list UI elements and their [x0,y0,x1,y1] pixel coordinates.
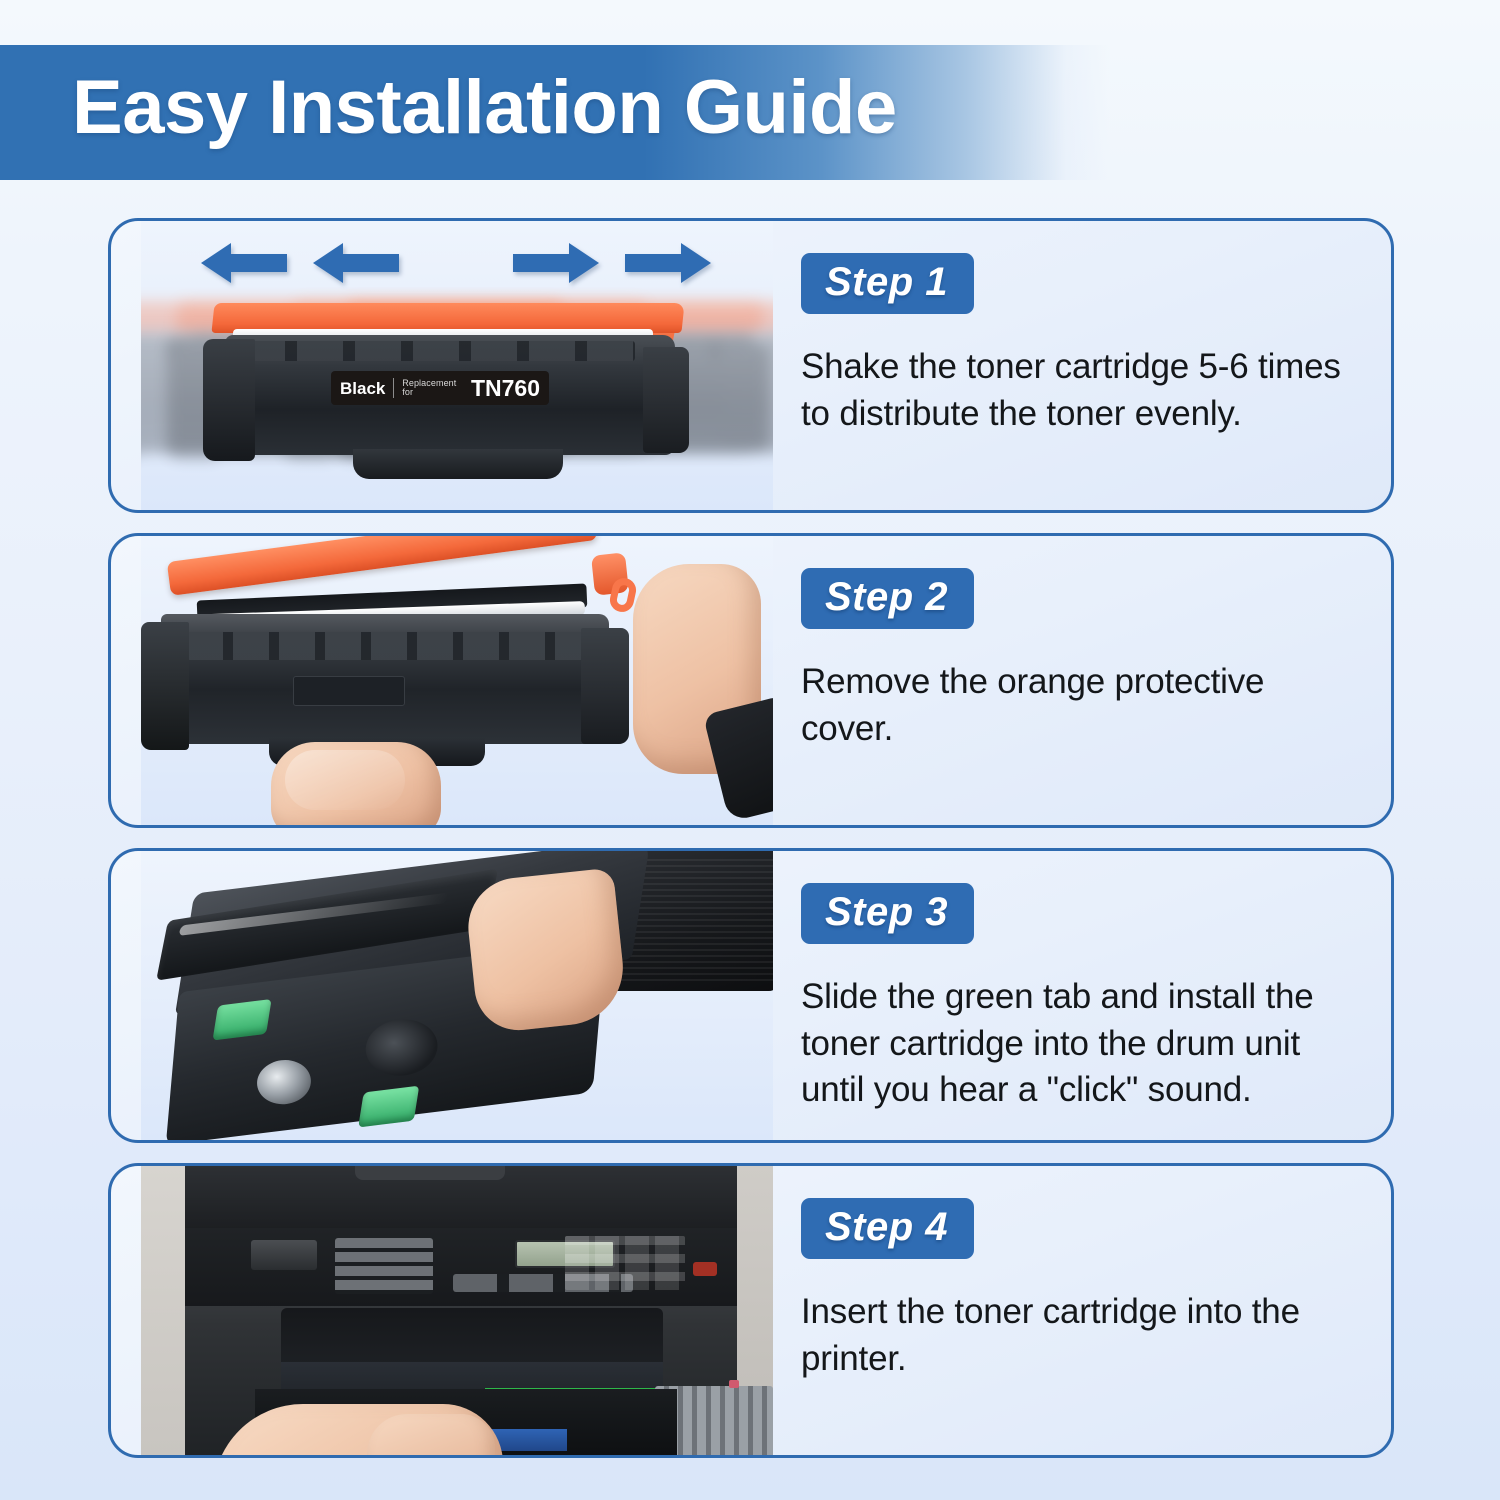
step-card-4: DR-2450 Recommended Laser Size [108,1163,1394,1458]
step-2-text: Step 2 Remove the orange protective cove… [773,536,1391,825]
cartridge-handle [353,449,563,479]
arrow-left-icon [313,241,399,285]
toner-cartridge: Black Replacement for TN760 [203,303,695,483]
cartridge-color-name: Black [340,380,385,397]
cartridge-model: TN760 [471,377,540,400]
label-divider [393,378,394,398]
step-badge-3: Step 3 [801,883,974,944]
arrow-left-icon [201,241,287,285]
printer-numeric-keypad [565,1236,685,1290]
arrow-right-icon [513,241,599,285]
cartridge-left-cap [141,622,189,750]
sleeve [703,696,773,822]
hand-knuckles [367,1414,495,1455]
hand-holding-cartridge [271,742,441,825]
step-4-image: DR-2450 Recommended Laser Size [141,1166,773,1455]
hand-holding-drum [463,868,628,1035]
step-3-image [141,851,773,1140]
printer-scene: DR-2450 Recommended Laser Size [141,1166,773,1455]
step-description-3: Slide the green tab and install the tone… [801,974,1351,1114]
cartridge-right-cap [643,347,689,453]
step-description-1: Shake the toner cartridge 5-6 times to d… [801,344,1351,437]
cartridge-plate [293,676,405,706]
shake-arrows-group [201,235,721,291]
step-2-image [141,536,773,825]
cartridge-left-cap [203,339,255,461]
step-1-image: Black Replacement for TN760 [141,221,773,510]
step-card-1: Black Replacement for TN760 Step 1 Shake… [108,218,1394,513]
cartridge-marker [729,1380,739,1388]
step-description-4: Insert the toner cartridge into the prin… [801,1289,1351,1382]
drum-unit-scene [141,851,773,1140]
cartridge-cover-removal-scene [141,536,773,825]
step-4-text: Step 4 Insert the toner cartridge into t… [773,1166,1391,1455]
page-title: Easy Installation Guide [72,64,897,151]
step-1-text: Step 1 Shake the toner cartridge 5-6 tim… [773,221,1391,510]
arrow-right-icon [625,241,711,285]
printer-brand-logo [251,1240,317,1270]
background-wall-left [141,1166,185,1455]
step-3-text: Step 3 Slide the green tab and install t… [773,851,1391,1140]
steps-list: Black Replacement for TN760 Step 1 Shake… [108,218,1394,1478]
cartridge-right-cap [581,628,629,744]
printer-control-panel [185,1228,737,1306]
step-badge-1: Step 1 [801,253,974,314]
printer-stop-button [693,1262,717,1276]
printer-body: DR-2450 Recommended Laser Size [185,1166,737,1455]
cartridge-fins [187,632,587,660]
step-description-2: Remove the orange protective cover. [801,659,1351,752]
green-tab-icon [358,1086,419,1128]
cartridge-label: Black Replacement for TN760 [331,371,549,405]
step-card-2: Step 2 Remove the orange protective cove… [108,533,1394,828]
cartridge-replacement-text: Replacement for [402,379,461,397]
printer-lid [355,1166,505,1180]
printer-function-keys [335,1238,433,1294]
step-card-3: Step 3 Slide the green tab and install t… [108,848,1394,1143]
step-badge-4: Step 4 [801,1198,974,1259]
cartridge-motion-group: Black Replacement for TN760 [141,289,773,504]
step-badge-2: Step 2 [801,568,974,629]
